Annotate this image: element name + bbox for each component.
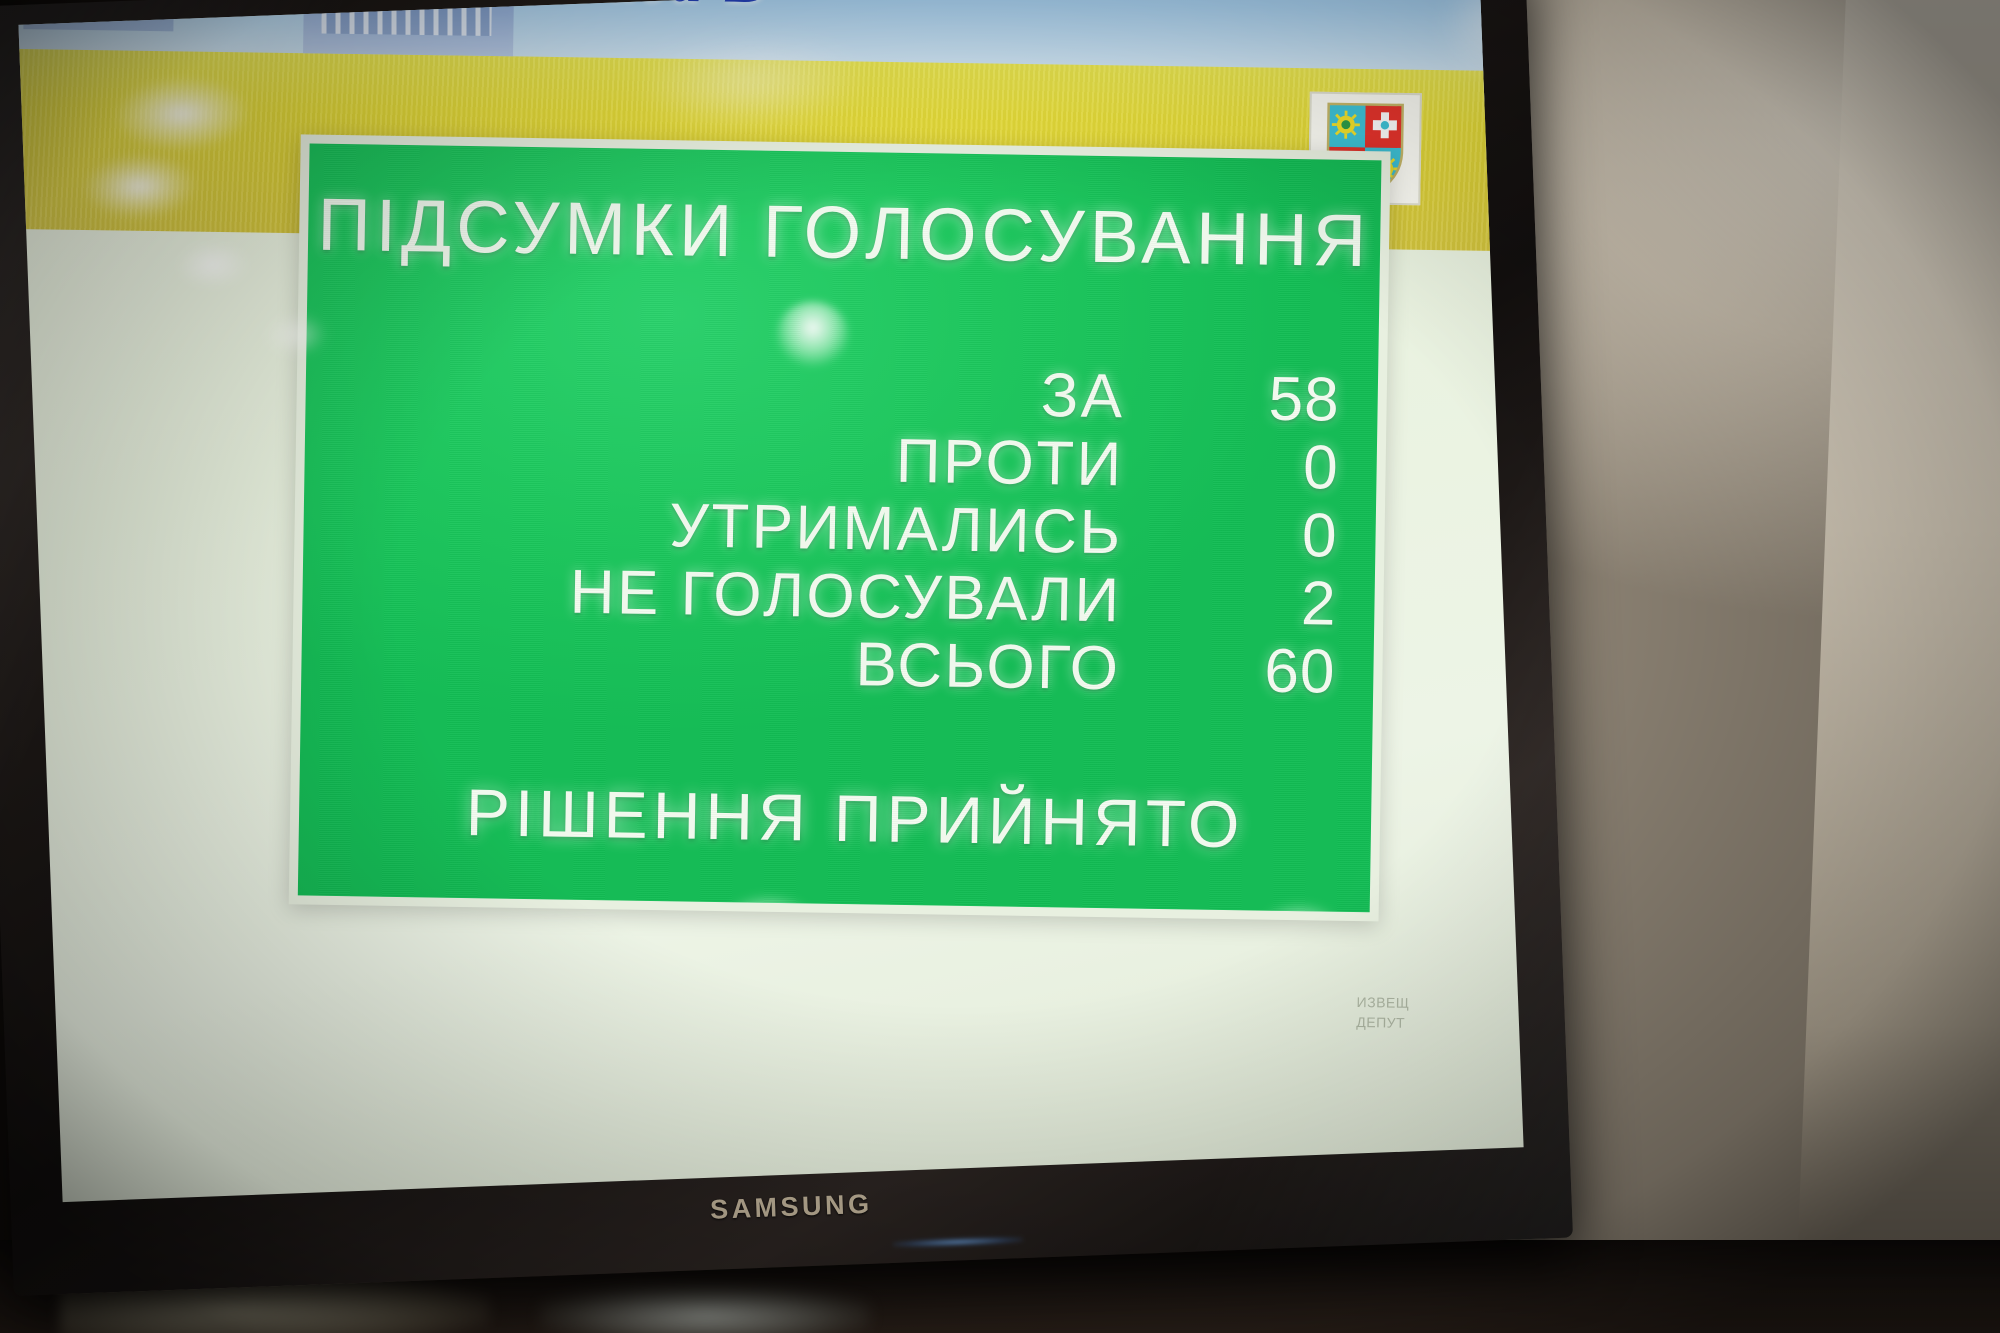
screen-footnote: ИЗВЕЩ ДЕПУТ [1356,992,1409,1033]
result-value-vsoho: 60 [1120,633,1336,707]
result-value-proty: 0 [1123,429,1339,503]
result-label-vsoho: ВСЬОГО [855,629,1121,704]
page-title: ПІДСУМКИ ГОЛОСУВАННЯ [308,182,1381,284]
display-screen[interactable]: Рада Рада-В [18,0,1523,1202]
table-row: НЕ ГОЛОСУВАЛИ 2 [436,555,1337,637]
table-row: ВСЬОГО 60 [435,623,1336,705]
result-label-ne-holosuvaly: НЕ ГОЛОСУВАЛИ [569,557,1122,637]
tv-bezel: Рада Рада-В [0,0,1573,1296]
result-value-ne-holosuvaly: 2 [1121,565,1337,639]
footnote-line-1: ИЗВЕЩ [1356,992,1409,1013]
voting-results-frame: ПІДСУМКИ ГОЛОСУВАННЯ ЗА 58 ПРОТИ 0 [289,134,1391,921]
television: Рада Рада-В [0,0,1954,1333]
footnote-line-2: ДЕПУТ [1356,1012,1409,1033]
result-value-utrymalys: 0 [1122,497,1338,571]
result-label-za: ЗА [1040,360,1125,432]
room-scene: Рада Рада-В [0,0,2000,1333]
screen-glare-highlight [177,241,249,288]
screen-glare-highlight [722,895,815,912]
voting-results-panel: ПІДСУМКИ ГОЛОСУВАННЯ ЗА 58 ПРОТИ 0 [298,144,1382,913]
result-value-za: 58 [1124,361,1340,435]
status-badge: РІШЕННЯ ПРИЙНЯТО [299,771,1372,864]
banner-title: Рада-В [569,0,776,17]
result-label-utrymalys: УТРИМАЛИСЬ [669,490,1123,568]
result-label-proty: ПРОТИ [895,426,1124,501]
banner-building-main [303,0,515,56]
screen-glare-highlight [1257,904,1344,913]
results-table: ЗА 58 ПРОТИ 0 УТРИМАЛИСЬ 0 [435,351,1340,705]
power-led-indicator [893,1236,1023,1248]
banner-building-left [23,0,175,31]
